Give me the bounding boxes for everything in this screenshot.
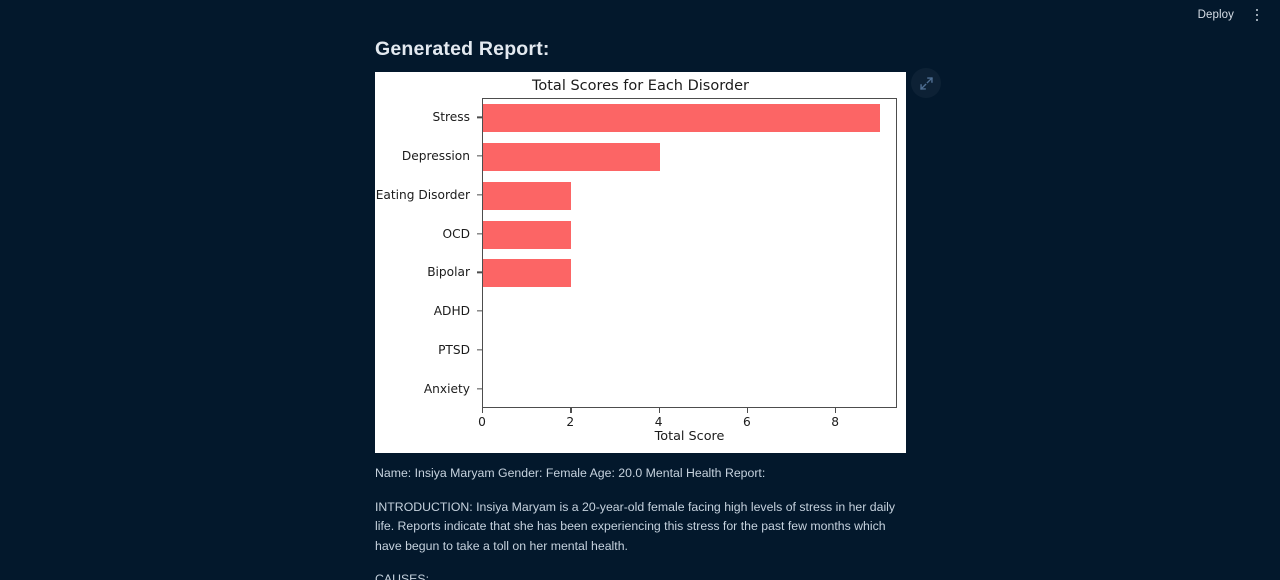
page-title: Generated Report: xyxy=(375,30,906,61)
chart-x-tick-mark xyxy=(747,408,748,413)
kebab-dot xyxy=(1256,19,1259,22)
chart-title: Total Scores for Each Disorder xyxy=(375,78,906,94)
chart-x-tick-mark xyxy=(570,408,571,413)
generated-report-text: Name: Insiya Maryam Gender: Female Age: … xyxy=(375,464,907,580)
report-paragraph: CAUSES: xyxy=(375,570,907,580)
chart-x-axis-title: Total Score xyxy=(482,429,897,444)
chart-bar xyxy=(483,104,880,132)
content-header: Generated Report: xyxy=(375,30,906,61)
chart-y-tick-label: ADHD xyxy=(434,304,470,318)
chart-bars xyxy=(483,99,896,407)
chart-x-tick-label: 8 xyxy=(831,415,839,429)
expand-arrows-glyph xyxy=(919,76,934,91)
chart-y-tick-label: Eating Disorder xyxy=(376,188,470,202)
chart-y-tick-label: PTSD xyxy=(438,343,470,357)
chart-x-tick-label: 0 xyxy=(478,415,486,429)
chart-bar xyxy=(483,259,571,287)
chart-y-axis: StressDepressionEating DisorderOCDBipola… xyxy=(375,98,478,408)
chart-x-tick-mark xyxy=(659,408,660,413)
chart-bar xyxy=(483,182,571,210)
chart-y-tick-label: Stress xyxy=(433,110,470,124)
chart-x-tick-mark xyxy=(835,408,836,413)
report-paragraph: Name: Insiya Maryam Gender: Female Age: … xyxy=(375,464,907,484)
chart-x-tick-label: 6 xyxy=(743,415,751,429)
app-root: Deploy Generated Report: Total Scores fo… xyxy=(0,0,1280,580)
chart-x-tick-label: 4 xyxy=(655,415,663,429)
chart-y-tick-label: Bipolar xyxy=(427,265,470,279)
report-paragraph: INTRODUCTION: Insiya Maryam is a 20-year… xyxy=(375,498,907,557)
chart-y-tick-label: OCD xyxy=(443,227,471,241)
chart-x-tick-label: 2 xyxy=(566,415,574,429)
kebab-dot xyxy=(1256,14,1259,17)
chart-card: Total Scores for Each Disorder StressDep… xyxy=(375,72,906,453)
chart-y-tick-label: Anxiety xyxy=(424,382,470,396)
fullscreen-expand-icon[interactable] xyxy=(911,68,941,98)
chart-bar xyxy=(483,221,571,249)
chart-x-tick-mark xyxy=(482,408,483,413)
deploy-button[interactable]: Deploy xyxy=(1190,6,1242,24)
chart-bar xyxy=(483,143,660,171)
kebab-dot xyxy=(1256,9,1259,12)
chart-y-tick-label: Depression xyxy=(402,149,470,163)
top-header-bar: Deploy xyxy=(0,0,1280,30)
kebab-menu-icon[interactable] xyxy=(1246,4,1268,26)
chart-plot-area xyxy=(482,98,897,408)
